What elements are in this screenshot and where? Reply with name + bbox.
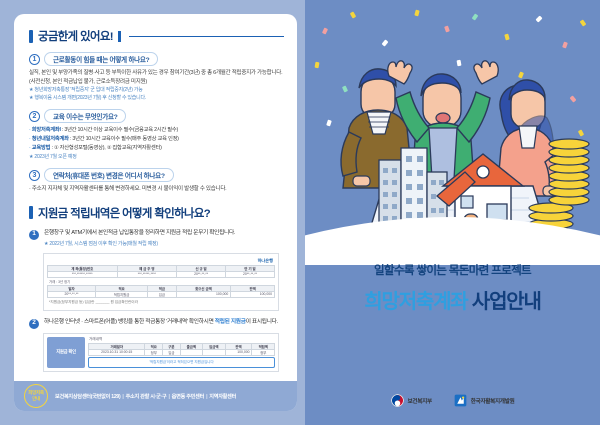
step-2-text-b: 이 표시됩니다.	[246, 319, 278, 325]
step-1-text: 은행창구 및 ATM기에서 본인적금 납입통장을 정리하면 지원금 적립 운무기…	[44, 229, 235, 240]
bank-note: *지원금(정부지원금 등) 입금란 _______ 원 입금확인란이라	[47, 298, 275, 307]
cell	[203, 349, 225, 355]
step-2-number: 2	[29, 319, 39, 329]
cover-subtitle: 일할수록 쌓이는 목돈마련 프로젝트	[305, 262, 600, 278]
cell: 20**-**-**	[177, 271, 226, 277]
step-2-text-highlight: 적립된 지원금	[215, 319, 246, 325]
cell: 정부	[252, 349, 275, 355]
question-3-body: · 주소지 지자체 및 지역자활센터를 통해 변경하세요. 미변경 시 불이익이…	[29, 185, 284, 194]
logo-development-institute-label: 한국자활복지개발원	[471, 397, 515, 405]
question-3-label: 연락처(휴대폰 번호) 변경은 어디서 하나요?	[44, 168, 174, 182]
contact-item-1: 주소지 관할 시·군·구	[126, 394, 167, 400]
logo-ministry: 보건복지부	[391, 394, 432, 407]
contact-item-0: 보건복지상담센터(국번없이 129)	[55, 394, 120, 400]
question-2-line-2: · 청년내일저축계좌 : 3년간 10시간 교육이수 필수(매주 동영상 교육 …	[29, 135, 284, 144]
question-1-label: 근로활동이 힘들 때는 어떻게 하나요?	[44, 52, 158, 66]
separator: |	[122, 394, 123, 400]
cell: 입금	[163, 349, 181, 355]
organization-logos: 보건복지부 한국자활복지개발원	[305, 394, 600, 407]
cell: 정부	[145, 349, 163, 355]
korea-self-sufficiency-logo-icon	[454, 394, 467, 407]
bullet-dot-icon: ·	[29, 145, 31, 151]
ministry-health-welfare-logo-icon	[391, 394, 404, 407]
cell: 입금	[148, 291, 176, 297]
heading-bar-icon	[29, 30, 33, 43]
cell: 100,000	[176, 291, 231, 297]
bank-sub-label: 거래 : 3년 정기	[47, 278, 275, 285]
app-hint-callout: '적립지원금'이라고 적혀있으면 지원금입니다	[88, 357, 275, 368]
question-2-row: 2 교육 이수는 무엇인가요?	[29, 109, 284, 123]
info-badge-line2: 안내	[28, 396, 44, 402]
question-2-line-3-text: : ① 자산형성포털(동영상), ② 집합교육(지역자활센터)	[50, 145, 161, 151]
section2-heading: 지원금 적립내역은 어떻게 확인하나요?	[29, 205, 284, 221]
table-row: ***-******-***** ***-*****-**** 20**-**-…	[48, 271, 275, 277]
left-content-panel: 궁금한게 있어요! 1 근로활동이 힘들 때는 어떻게 하나요? 실직, 본인 …	[14, 14, 297, 411]
right-cover-panel: 일할수록 쌓이는 목돈마련 프로젝트 희망저축계좌 사업안내 보건복지부	[305, 0, 600, 425]
question-2-line-3-term: 교육방법	[32, 145, 51, 151]
cell: 20**-**-**	[226, 271, 275, 277]
cell: 20**-**-**	[48, 291, 96, 297]
logo-ministry-label: 보건복지부	[408, 397, 432, 405]
question-1-number: 1	[29, 54, 40, 65]
app-transactions-table: 거래일자 적요 구분 출금액 입금액 잔액 적립액 2023.10.31 10:…	[88, 343, 275, 356]
step-2-text: 하나은행 인터넷 · 스마트폰(어플) 뱅킹을 통한 적금통장 '거래내역' 확…	[44, 318, 278, 329]
question-2-line-1: · 희망저축계좌I : 3년간 10시간 이상 교육이수 필수(금융교육 2시간…	[29, 126, 284, 135]
brochure-page: 궁금한게 있어요! 1 근로활동이 힘들 때는 어떻게 하나요? 실직, 본인 …	[0, 0, 600, 425]
mobile-app-screenshot: 지원금 확인 거래내역 거래일자 적요 구분 출금액 입금액 잔액 적립액	[43, 333, 279, 372]
step-1-row: 1 은행창구 및 ATM기에서 본인적금 납입통장을 정리하면 지원금 적립 운…	[29, 229, 284, 240]
info-badge: 희망저축 안내	[24, 384, 48, 408]
heading-bar-icon	[29, 206, 33, 219]
question-2-number: 2	[29, 111, 40, 122]
section1-heading: 궁금한게 있어요!	[29, 28, 284, 44]
question-1-star-2: ★ 행복이음 시스템 개편(2023년 7월) 후 신청할 수 있습니다.	[29, 94, 284, 102]
cell: 2023.10.31 10:00:15	[89, 349, 145, 355]
cover-illustration	[305, 0, 600, 265]
question-2-line-2-text: : 3년간 10시간 교육이수 필수(매주 동영상 교육 인정)	[69, 136, 179, 142]
bank-statement-screenshot: 하나은행 계 좌(통장)번호 예 금 주 명 신 규 일 만 기 일 ***-*…	[43, 253, 279, 311]
table-row: 20**-**-** 적립지원금 입금 100,000 100,000	[48, 291, 275, 297]
step-1-number: 1	[29, 230, 39, 240]
cell: 100,000	[231, 291, 275, 297]
cell: ***-*****-****	[117, 271, 177, 277]
bullet-dot-icon: ·	[29, 127, 31, 133]
bank-detail-table: 일자 적요 적금 찾으신 금액 잔액 20**-**-** 적립지원금 입금 1…	[47, 285, 275, 298]
bullet-dot-icon: ·	[29, 136, 31, 142]
bank-statement-table: 계 좌(통장)번호 예 금 주 명 신 규 일 만 기 일 ***-******…	[47, 265, 275, 278]
question-2-line-3: · 교육방법 : ① 자산형성포털(동영상), ② 집합교육(지역자활센터)	[29, 144, 284, 153]
contact-list: 보건복지상담센터(국번없이 129)|주소지 관할 시·군·구|읍면동 주민센터…	[55, 393, 236, 400]
heading-rule	[129, 36, 284, 37]
question-2-line-2-term: 청년내일저축계좌	[32, 136, 69, 142]
question-3-row: 3 연락처(휴대폰 번호) 변경은 어디서 하나요?	[29, 168, 284, 182]
question-1-row: 1 근로활동이 힘들 때는 어떻게 하나요?	[29, 52, 284, 66]
section2-title: 지원금 적립내역은 어떻게 확인하나요?	[38, 205, 210, 221]
step-2-text-a: 하나은행 인터넷 · 스마트폰(어플) 뱅킹을 통한 적금통장 '거래내역' 확…	[44, 319, 215, 325]
question-2-star-1: ★ 2023년 7월 오픈 예정	[29, 153, 284, 161]
step-2-row: 2 하나은행 인터넷 · 스마트폰(어플) 뱅킹을 통한 적금통장 '거래내역'…	[29, 318, 284, 329]
contact-item-3: 지역자활센터	[209, 394, 236, 400]
cover-title-program: 희망저축계좌	[364, 291, 467, 313]
contact-footer: 희망저축 안내 보건복지상담센터(국번없이 129)|주소지 관할 시·군·구|…	[14, 381, 297, 411]
bank-name-label: 하나은행	[47, 257, 275, 265]
cell: 적립지원금	[96, 291, 148, 297]
question-1-star-1: ★ 청년희망저축통장 '적립중지' 군 입대 적립중지(2년) 가능	[29, 86, 284, 94]
separator: |	[169, 394, 170, 400]
separator: |	[206, 394, 207, 400]
question-1-body: 실직, 본인 및 부양가족의 질병·사고 등 부득이한 사유가 있는 경우 참여…	[29, 69, 284, 86]
table-row: 2023.10.31 10:00:15 정부 입금 100,000 정부	[89, 349, 275, 355]
cell: ***-******-*****	[48, 271, 118, 277]
cover-title-suffix: 사업안내	[472, 291, 541, 313]
logo-development-institute: 한국자활복지개발원	[454, 394, 515, 407]
question-2-label: 교육 이수는 무엇인가요?	[44, 109, 126, 123]
section1-title: 궁금한게 있어요!	[38, 28, 113, 44]
step-1-star: ★ 2022년 7월, 시스템 점검 이후 확인 가능(매월 적립 예정)	[44, 240, 284, 248]
contact-item-2: 읍면동 주민센터	[172, 394, 204, 400]
question-2-line-1-term: 희망저축계좌I	[32, 127, 61, 133]
cover-title: 희망저축계좌 사업안내	[305, 285, 600, 314]
question-2-line-1-text: : 3년간 10시간 이상 교육이수 필수(금융교육 2시간 필수)	[61, 127, 178, 133]
cover-title-block: 일할수록 쌓이는 목돈마련 프로젝트 희망저축계좌 사업안내	[305, 262, 600, 314]
app-side-label: 지원금 확인	[47, 337, 85, 368]
question-3-number: 3	[29, 170, 40, 181]
cell	[180, 349, 202, 355]
heading-bar2-icon	[118, 31, 121, 42]
cell: 100,000	[225, 349, 252, 355]
